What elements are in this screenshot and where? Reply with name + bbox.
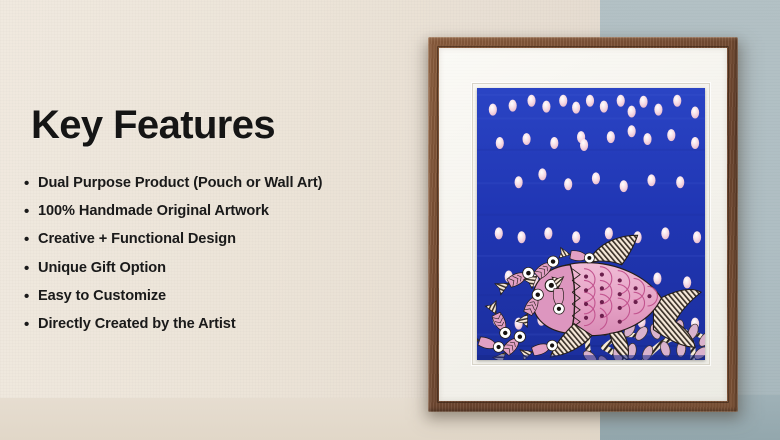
- feature-list: • Dual Purpose Product (Pouch or Wall Ar…: [24, 176, 416, 345]
- bullet-marker-icon: •: [24, 176, 38, 191]
- list-item-label: Creative + Functional Design: [38, 232, 416, 247]
- slide-canvas: Key Features • Dual Purpose Product (Pou…: [0, 0, 780, 440]
- list-item-label: Dual Purpose Product (Pouch or Wall Art): [38, 176, 416, 191]
- list-item: • Dual Purpose Product (Pouch or Wall Ar…: [24, 176, 416, 191]
- list-item: • Creative + Functional Design: [24, 232, 416, 247]
- list-item: • Directly Created by the Artist: [24, 317, 416, 332]
- bullet-marker-icon: •: [24, 261, 38, 276]
- list-item-label: 100% Handmade Original Artwork: [38, 204, 416, 219]
- page-title: Key Features: [31, 105, 275, 145]
- list-item: • Easy to Customize: [24, 289, 416, 304]
- bullet-marker-icon: •: [24, 289, 38, 304]
- list-item: • 100% Handmade Original Artwork: [24, 204, 416, 219]
- text-column: Key Features • Dual Purpose Product (Pou…: [0, 0, 420, 440]
- list-item: • Unique Gift Option: [24, 261, 416, 276]
- mat-board: [439, 48, 727, 401]
- gond-fish-painting-illustration: [477, 88, 705, 360]
- list-item-label: Unique Gift Option: [38, 261, 416, 276]
- bullet-marker-icon: •: [24, 204, 38, 219]
- list-item-label: Directly Created by the Artist: [38, 317, 416, 332]
- bullet-marker-icon: •: [24, 317, 38, 332]
- list-item-label: Easy to Customize: [38, 289, 416, 304]
- artwork-canvas: [477, 88, 705, 360]
- bullet-marker-icon: •: [24, 232, 38, 247]
- picture-frame: [428, 37, 738, 412]
